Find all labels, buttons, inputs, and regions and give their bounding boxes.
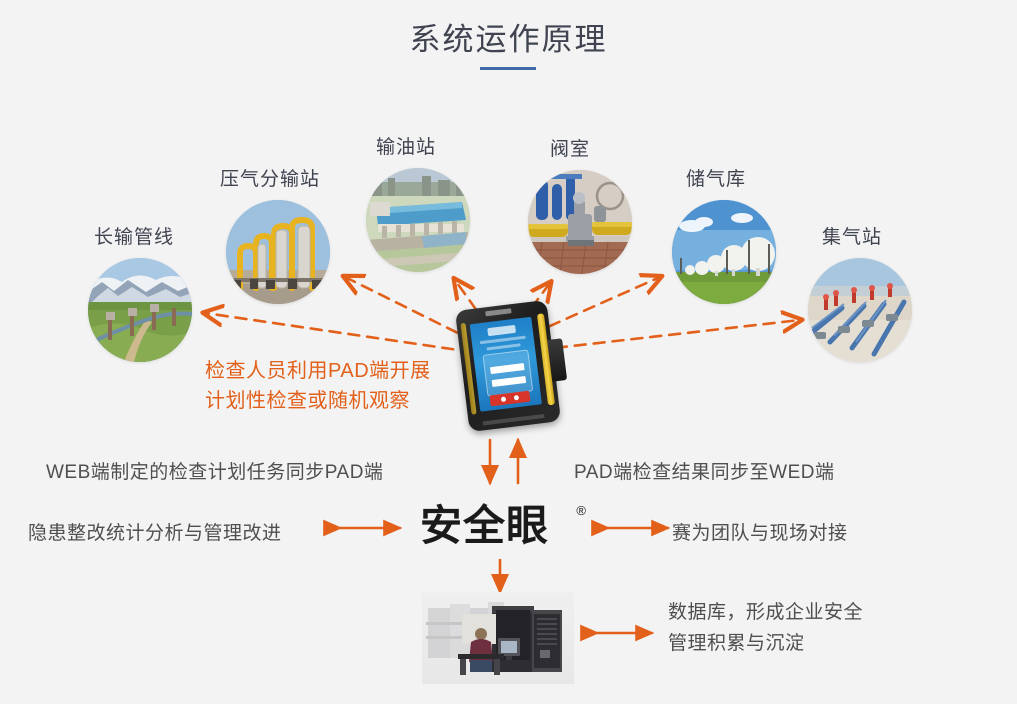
station-image-gas-storage: [672, 200, 776, 304]
station-image-compressor-distribution-station: [226, 200, 330, 304]
station-image-oil-transfer-station: [366, 168, 470, 272]
station-image-long-distance-pipeline: [88, 258, 192, 362]
station-compressor-distribution-station[interactable]: 压气分输站: [226, 200, 330, 304]
screen-text-line-2: [487, 343, 521, 350]
station-label-long-distance-pipeline: 长输管线: [94, 222, 174, 249]
pad-usage-callout: 检查人员利用PAD端开展 计划性检查或随机观察: [205, 356, 431, 416]
station-label-compressor-distribution-station: 压气分输站: [220, 164, 320, 191]
pad-tablet-device[interactable]: [455, 300, 561, 432]
screen-password-field[interactable]: [492, 376, 527, 387]
brand-registered-mark: ®: [576, 503, 586, 518]
station-oil-transfer-station[interactable]: 输油站: [366, 168, 470, 272]
brand-logo: 安全眼 ®: [420, 501, 590, 553]
station-image-gas-gathering-station: [808, 258, 912, 362]
database-description: 数据库，形成企业安全 管理积累与沉淀: [668, 597, 863, 659]
brand-logo-text: 安全眼: [420, 501, 590, 551]
flow-label-team-support: 赛为团队与现场对接: [672, 518, 848, 545]
station-gas-gathering-station[interactable]: 集气站: [808, 258, 912, 362]
station-label-gas-storage: 储气库: [686, 164, 746, 191]
database-description-line-1: 数据库，形成企业安全: [668, 597, 863, 628]
server-room-image: [422, 592, 574, 684]
database-description-line-2: 管理积累与沉淀: [668, 628, 863, 659]
station-label-valve-room: 阀室: [550, 134, 590, 161]
station-long-distance-pipeline[interactable]: 长输管线: [88, 258, 192, 362]
screen-app-logo: [487, 325, 516, 336]
tablet-screen[interactable]: [470, 317, 542, 412]
station-label-gas-gathering-station: 集气站: [822, 222, 882, 249]
title-underline: [480, 67, 536, 70]
flow-label-web-to-pad: WEB端制定的检查计划任务同步PAD端: [46, 457, 383, 484]
page-title: 系统运作原理: [0, 14, 1017, 59]
station-label-oil-transfer-station: 输油站: [376, 132, 436, 159]
pad-usage-callout-line-2: 计划性检查或随机观察: [205, 386, 431, 416]
station-gas-storage[interactable]: 储气库: [672, 200, 776, 304]
screen-username-field[interactable]: [490, 363, 525, 374]
flow-label-hazard-analysis: 隐患整改统计分析与管理改进: [28, 518, 282, 545]
flow-label-pad-to-web: PAD端检查结果同步至WED端: [574, 457, 835, 484]
station-valve-room[interactable]: 阀室: [528, 170, 632, 274]
screen-login-card: [482, 349, 533, 396]
station-image-valve-room: [528, 170, 632, 274]
pad-usage-callout-line-1: 检查人员利用PAD端开展: [205, 356, 431, 386]
